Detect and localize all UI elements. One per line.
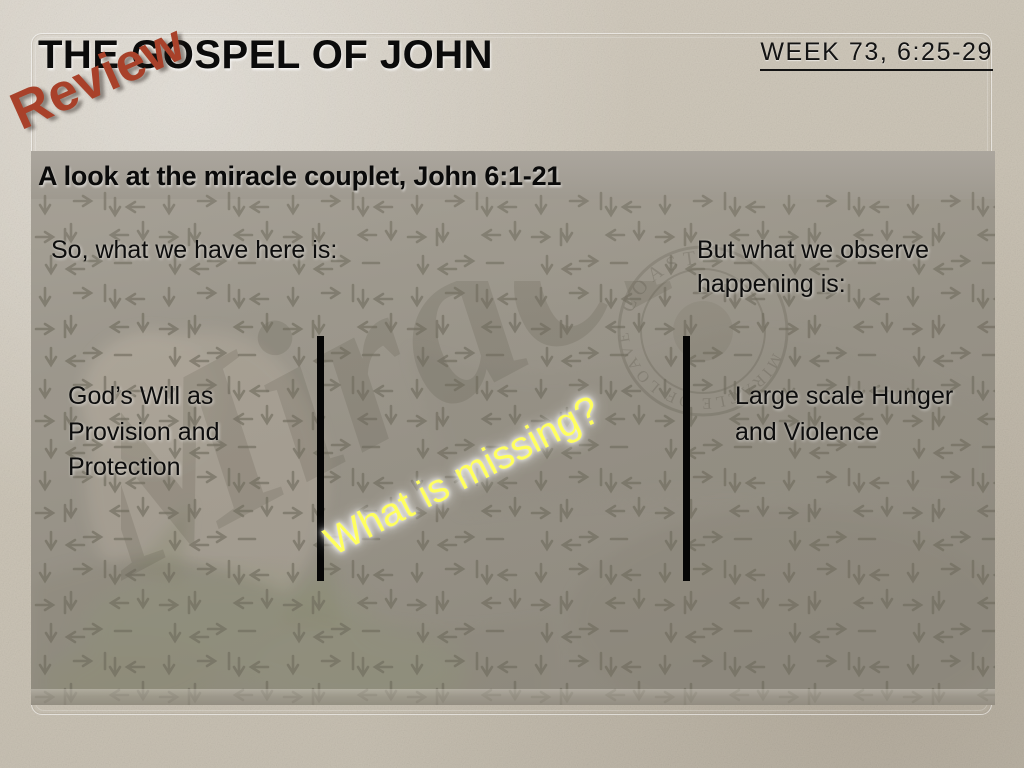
panel-bottom-edge xyxy=(31,689,995,705)
right-column-heading: But what we observe happening is: xyxy=(697,234,1007,301)
left-column-body: God’s Will as Provision and Protection xyxy=(68,379,318,486)
slide-subtitle: A look at the miracle couplet, John 6:1-… xyxy=(38,161,561,192)
right-column-body: Large scale Hunger and Violence xyxy=(735,379,985,450)
right-divider-bar xyxy=(683,336,690,581)
week-reference-label: WEEK 73, 6:25-29 xyxy=(760,38,993,71)
left-column-heading: So, what we have here is: xyxy=(51,234,351,268)
slide-canvas: Miracle COAST MIRACLE OF LOAVES xyxy=(0,0,1024,768)
left-divider-bar xyxy=(317,336,324,581)
